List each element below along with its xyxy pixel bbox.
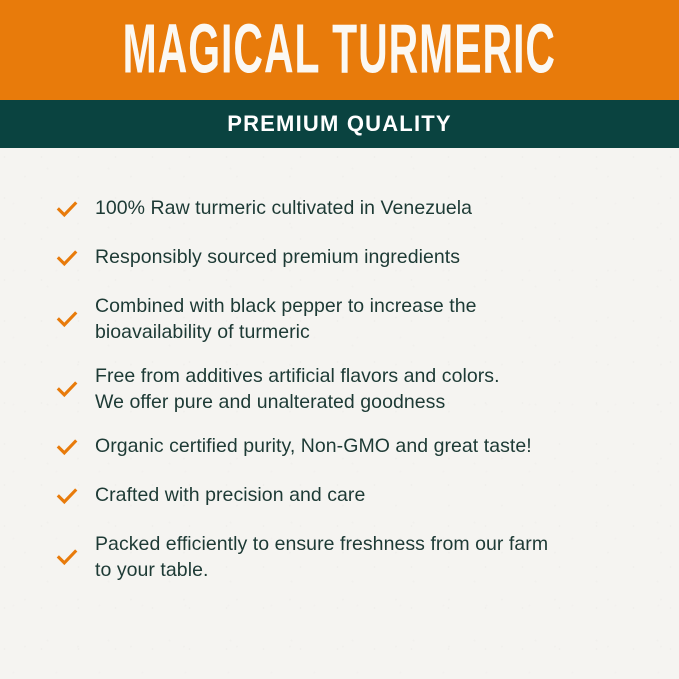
product-feature-card: MAGICAL TURMERIC PREMIUM QUALITY 100% Ra… [0,0,679,679]
feature-list: 100% Raw turmeric cultivated in Venezuel… [0,148,679,583]
check-icon [56,436,78,460]
feature-item-label: 100% Raw turmeric cultivated in Venezuel… [95,196,472,222]
feature-item: Crafted with precision and care [56,483,639,509]
page-title: MAGICAL TURMERIC [123,15,556,84]
title-band: MAGICAL TURMERIC [0,0,679,100]
feature-item: Packed efficiently to ensure freshness f… [56,532,639,583]
feature-item: Responsibly sourced premium ingredients [56,245,639,271]
feature-item: Combined with black pepper to increase t… [56,294,639,345]
check-icon [56,485,78,509]
check-icon [56,546,78,570]
feature-item-label: Responsibly sourced premium ingredients [95,245,460,271]
feature-item: Organic certified purity, Non-GMO and gr… [56,434,639,460]
subtitle: PREMIUM QUALITY [227,111,452,137]
feature-item: Free from additives artificial flavors a… [56,364,639,415]
check-icon [56,198,78,222]
subtitle-band: PREMIUM QUALITY [0,100,679,148]
feature-item-label: Combined with black pepper to increase t… [95,294,476,345]
check-icon [56,378,78,402]
feature-item-label: Free from additives artificial flavors a… [95,364,500,415]
feature-item: 100% Raw turmeric cultivated in Venezuel… [56,196,639,222]
feature-item-label: Packed efficiently to ensure freshness f… [95,532,548,583]
check-icon [56,247,78,271]
feature-item-label: Organic certified purity, Non-GMO and gr… [95,434,532,460]
feature-item-label: Crafted with precision and care [95,483,365,509]
check-icon [56,308,78,332]
